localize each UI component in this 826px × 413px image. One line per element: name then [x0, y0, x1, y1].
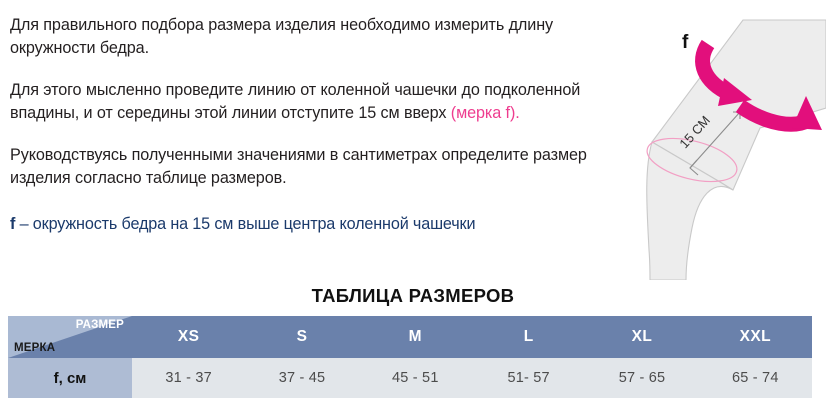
table-title: ТАБЛИЦА РАЗМЕРОВ — [0, 285, 826, 307]
size-header-m: M — [359, 316, 472, 358]
instruction-paragraph-2-accent: (мерка f). — [451, 104, 520, 122]
row-label-f-cm: f, см — [8, 358, 132, 398]
size-table-head: РАЗМЕР МЕРКА XS S M L XL XXL — [8, 316, 812, 358]
cell-m: 45 - 51 — [359, 358, 472, 398]
size-header-s: S — [245, 316, 358, 358]
size-chart-page: Для правильного подбора размера изделия … — [0, 0, 826, 413]
size-header-xxl: XXL — [699, 316, 812, 358]
size-header-xl: XL — [585, 316, 698, 358]
leg-illustration: 15 СМ f — [600, 0, 826, 280]
cell-l: 51- 57 — [472, 358, 585, 398]
table-corner-cell: РАЗМЕР МЕРКА — [8, 316, 132, 358]
size-table: РАЗМЕР МЕРКА XS S M L XL XXL f, см 31 - … — [8, 316, 812, 398]
instruction-paragraph-1: Для правильного подбора размера изделия … — [10, 14, 590, 60]
cell-xxl: 65 - 74 — [699, 358, 812, 398]
legend-text: – окружность бедра на 15 см выше центра … — [15, 215, 475, 233]
corner-label-razmer: РАЗМЕР — [76, 319, 124, 331]
size-table-body: f, см 31 - 37 37 - 45 45 - 51 51- 57 57 … — [8, 358, 812, 398]
size-header-l: L — [472, 316, 585, 358]
instructions-block: Для правильного подбора размера изделия … — [10, 14, 590, 236]
legend-line: f – окружность бедра на 15 см выше центр… — [10, 213, 590, 236]
table-row: f, см 31 - 37 37 - 45 45 - 51 51- 57 57 … — [8, 358, 812, 398]
instruction-paragraph-2: Для этого мысленно проведите линию от ко… — [10, 79, 590, 125]
corner-label-merka: МЕРКА — [14, 342, 55, 354]
leg-illustration-svg: 15 СМ — [600, 0, 826, 280]
instruction-paragraph-3: Руководствуясь полученными значениями в … — [10, 144, 590, 190]
measure-label-f: f — [682, 32, 688, 54]
size-table-header-row: РАЗМЕР МЕРКА XS S M L XL XXL — [8, 316, 812, 358]
cell-xs: 31 - 37 — [132, 358, 245, 398]
cell-xl: 57 - 65 — [585, 358, 698, 398]
size-header-xs: XS — [132, 316, 245, 358]
cell-s: 37 - 45 — [245, 358, 358, 398]
